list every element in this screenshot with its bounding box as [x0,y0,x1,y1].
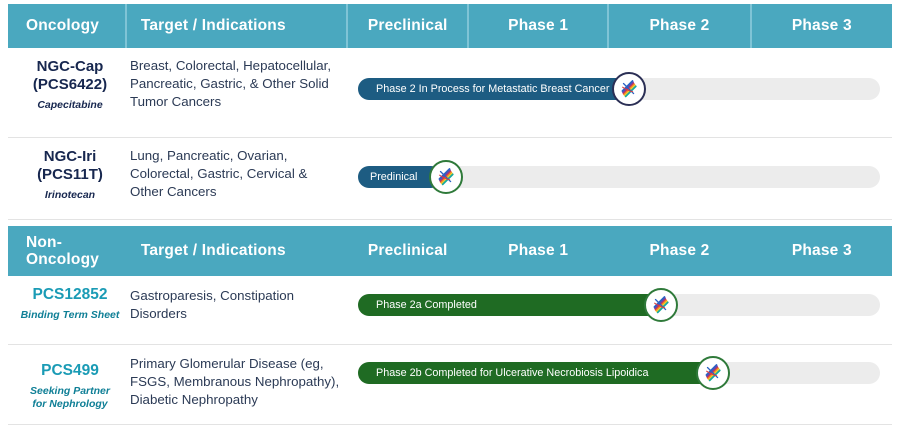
indication-text: Gastroparesis, Constipation Disorders [130,287,342,323]
drug-name: PCS12852 [14,286,126,305]
header-cell-phase-1: Phase 1 [469,226,607,276]
drug-name: NGC-Cap (PCS6422) [14,58,126,95]
row-separator [8,219,892,220]
header-cell-phase-2: Phase 2 [609,4,749,48]
row-separator [8,424,892,425]
header-cell-phase-2: Phase 2 [609,226,749,276]
progress-track: Phase 2a Completed [358,294,880,316]
header-cell-target-indications: Target / Indications [127,226,347,276]
pipeline-row: NGC-Cap (PCS6422) Capecitabine Breast, C… [0,52,900,136]
progress-track: Predinical [358,166,880,188]
header-cell-phase-1: Phase 1 [469,4,607,48]
pipeline-row: PCS499 Seeking Partner for Nephrology Pr… [0,350,900,430]
progress-fill[interactable]: Phase 2a Completed [358,294,661,316]
progress-track: Phase 2 In Process for Metastatic Breast… [358,78,880,100]
drug-identity: PCS499 Seeking Partner for Nephrology [14,362,126,410]
header-cell-preclinical: Preclinical [348,4,467,48]
row-separator [8,344,892,345]
drug-generic-name: Irinotecan [14,189,126,202]
row-separator [8,137,892,138]
drug-status-note: Binding Term Sheet [14,309,126,322]
header-cell-oncology: Oncology [8,4,125,48]
header-cell-phase-3: Phase 3 [752,4,892,48]
progress-fill[interactable]: Phase 2 In Process for Metastatic Breast… [358,78,629,100]
drug-status-note: Seeking Partner for Nephrology [14,385,126,410]
dna-helix-logo-icon [644,288,678,322]
progress-fill[interactable]: Phase 2b Completed for Ulcerative Necrob… [358,362,713,384]
header-cell-phase-3: Phase 3 [752,226,892,276]
drug-identity: NGC-Cap (PCS6422) Capecitabine [14,58,126,111]
indication-text: Lung, Pancreatic, Ovarian, Colorectal, G… [130,147,342,200]
non-oncology-header-row: Non- Oncology Target / Indications Precl… [8,226,892,276]
header-cell-target-indications: Target / Indications [127,4,347,48]
progress-label: Phase 2 In Process for Metastatic Breast… [376,83,609,95]
progress-label: Phase 2a Completed [376,299,477,311]
pipeline-row: PCS12852 Binding Term Sheet Gastroparesi… [0,282,900,344]
dna-helix-logo-icon [696,356,730,390]
pipeline-row: NGC-Iri (PCS11T) Irinotecan Lung, Pancre… [0,142,900,220]
header-cell-non-oncology: Non- Oncology [8,226,125,276]
pipeline-chart: Oncology Target / Indications Preclinica… [0,0,900,430]
indication-text: Primary Glomerular Disease (eg, FSGS, Me… [130,355,342,408]
progress-track: Phase 2b Completed for Ulcerative Necrob… [358,362,880,384]
drug-generic-name: Capecitabine [14,99,126,112]
drug-identity: PCS12852 Binding Term Sheet [14,286,126,322]
indication-text: Breast, Colorectal, Hepatocellular, Panc… [130,57,342,110]
drug-name: PCS499 [14,362,126,381]
drug-name: NGC-Iri (PCS11T) [14,148,126,185]
dna-helix-logo-icon [612,72,646,106]
progress-label: Predinical [370,171,417,183]
header-cell-preclinical: Preclinical [348,226,467,276]
oncology-header-row: Oncology Target / Indications Preclinica… [8,4,892,48]
drug-identity: NGC-Iri (PCS11T) Irinotecan [14,148,126,201]
progress-label: Phase 2b Completed for Ulcerative Necrob… [376,367,648,379]
dna-helix-logo-icon [429,160,463,194]
